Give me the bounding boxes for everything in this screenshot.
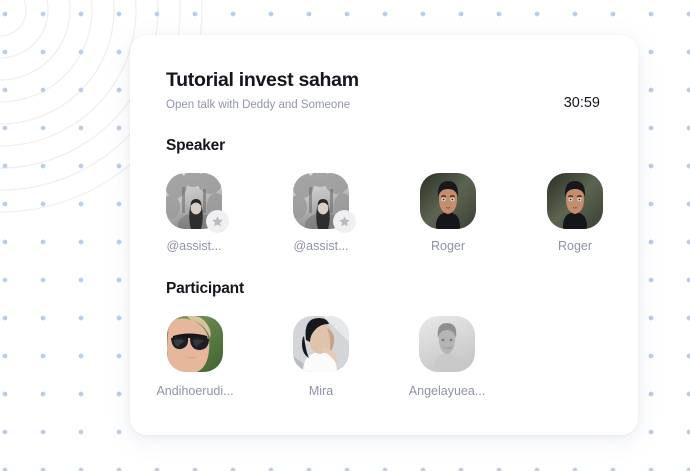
meeting-card: Tutorial invest saham Open talk with Ded… xyxy=(130,35,638,435)
person-name: Roger xyxy=(558,239,592,253)
speaker-section-heading: Speaker xyxy=(166,137,602,155)
participant-item[interactable]: Angelayuea... xyxy=(418,316,476,398)
avatar-wrapper xyxy=(419,316,475,372)
person-name: Mira xyxy=(309,384,333,398)
participant-list: Andihoerudi... xyxy=(166,316,602,398)
session-subtitle: Open talk with Deddy and Someone xyxy=(166,99,359,113)
session-timer: 30:59 xyxy=(564,69,602,111)
avatar xyxy=(547,173,603,229)
person-name: @assist... xyxy=(293,239,348,253)
header-title-block: Tutorial invest saham Open talk with Ded… xyxy=(166,69,359,113)
star-badge-icon xyxy=(333,210,356,233)
avatar xyxy=(419,316,475,372)
person-name: Roger xyxy=(431,239,465,253)
avatar xyxy=(420,173,476,229)
speaker-item[interactable]: @assist... xyxy=(166,173,222,253)
participant-section: Participant xyxy=(166,280,602,398)
speaker-item[interactable]: Roger xyxy=(420,173,476,253)
avatar-wrapper xyxy=(293,316,349,372)
avatar-wrapper xyxy=(167,316,223,372)
participant-item[interactable]: Andihoerudi... xyxy=(166,316,224,398)
avatar xyxy=(293,316,349,372)
person-name: Andihoerudi... xyxy=(156,384,233,398)
participant-item[interactable]: Mira xyxy=(292,316,350,398)
speaker-item[interactable]: Roger xyxy=(547,173,603,253)
avatar xyxy=(167,316,223,372)
person-name: @assist... xyxy=(166,239,221,253)
speaker-list: @assist... xyxy=(166,173,602,253)
card-header: Tutorial invest saham Open talk with Ded… xyxy=(166,69,602,113)
speaker-item[interactable]: @assist... xyxy=(293,173,349,253)
avatar-wrapper xyxy=(420,173,476,229)
avatar-wrapper xyxy=(293,173,349,229)
person-name: Angelayuea... xyxy=(409,384,485,398)
page-title: Tutorial invest saham xyxy=(166,69,359,92)
star-badge-icon xyxy=(206,210,229,233)
avatar-wrapper xyxy=(547,173,603,229)
avatar-wrapper xyxy=(166,173,222,229)
speaker-section: Speaker xyxy=(166,137,602,253)
participant-section-heading: Participant xyxy=(166,280,602,298)
